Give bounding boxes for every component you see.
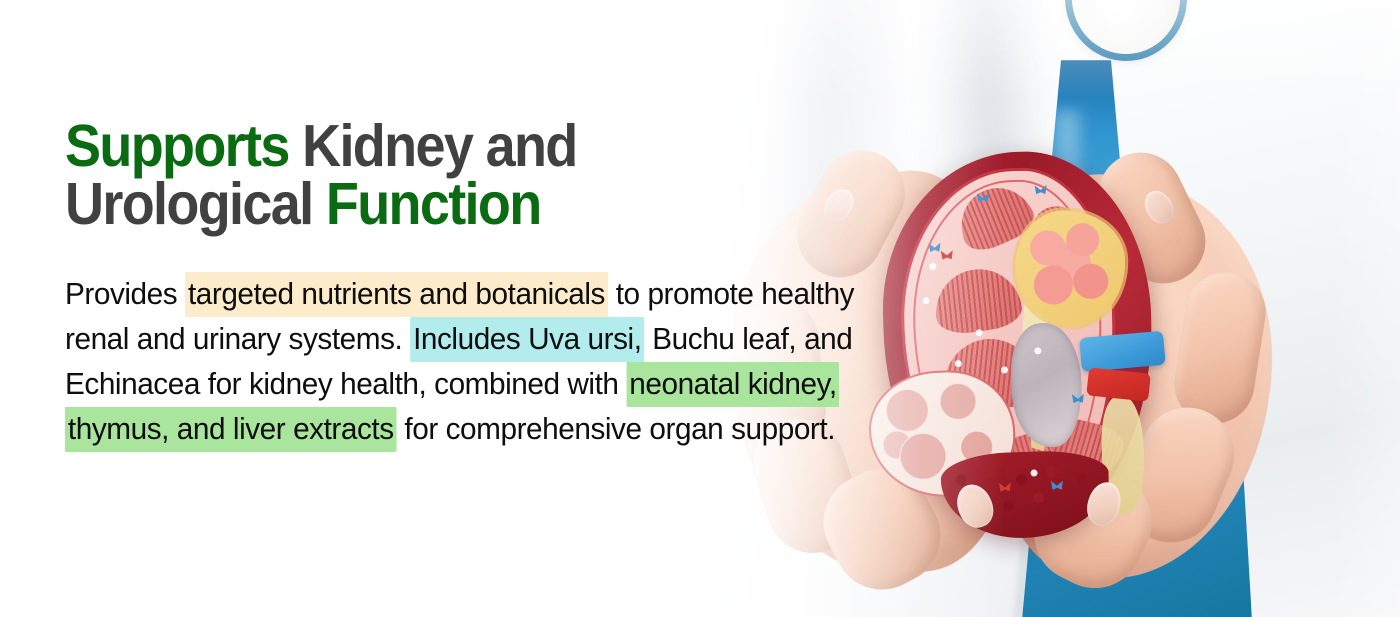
kidney-support-banner: Supports Kidney andUrological Function P… [0,0,1400,617]
renal-vein [1079,331,1166,372]
headline-part-kidney-and: Kidney and [289,113,577,179]
highlight-targeted-nutrients: targeted nutrients and botanicals [185,272,608,317]
body-segment-1: Provides [65,277,185,311]
headline-part-supports: Supports [65,113,289,179]
body-description: Provides targeted nutrients and botanica… [65,272,874,452]
highlight-uva-ursi: Includes Uva ursi, [410,317,644,362]
headline-part-urological: Urological [65,171,326,237]
page-title: Supports Kidney andUrological Function [65,118,824,234]
text-content: Supports Kidney andUrological Function P… [65,0,895,617]
kidney-model [877,147,1158,536]
headline-part-function: Function [326,171,541,237]
body-segment-7: for comprehensive organ support. [397,412,835,446]
